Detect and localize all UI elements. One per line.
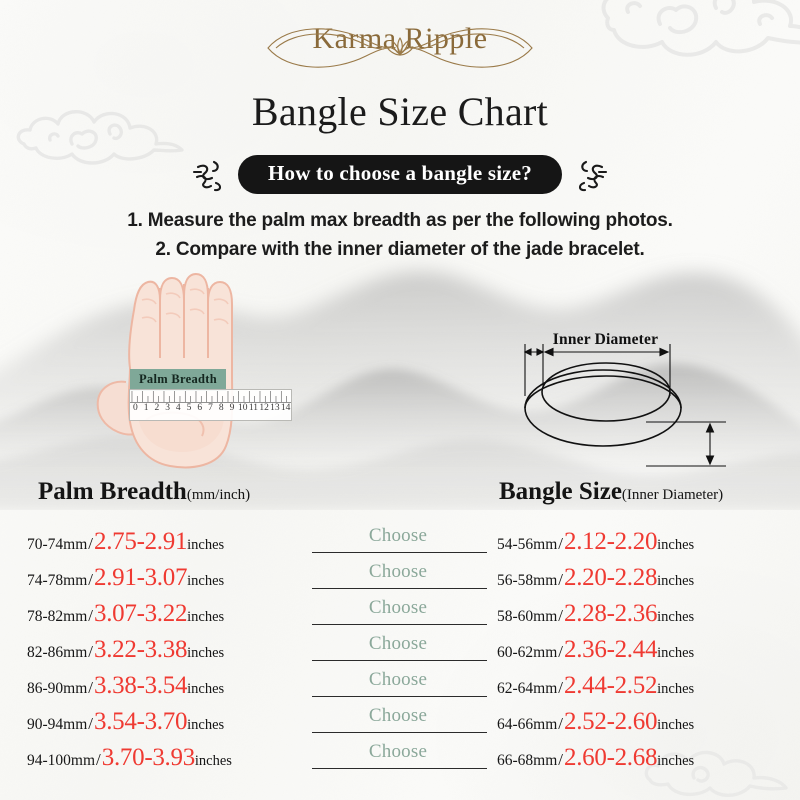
table-row: 90-94mm/3.54-3.70inchesChoose64-66mm/2.5…	[0, 704, 800, 740]
palm-breadth-unit: inches	[187, 537, 224, 554]
choose-cell[interactable]: Choose	[307, 632, 489, 668]
palm-breadth-mm: 74-78mm	[27, 572, 87, 590]
separator-slash: /	[95, 750, 102, 770]
bangle-size-cell: 60-62mm/2.36-2.44inches	[497, 636, 787, 664]
palm-breadth-cell: 94-100mm/3.70-3.93inches	[27, 744, 292, 772]
palm-breadth-mm: 94-100mm	[27, 752, 95, 770]
choose-label[interactable]: Choose	[307, 597, 489, 619]
bangle-size-unit: inches	[657, 573, 694, 590]
ruler-number: 6	[194, 403, 205, 413]
bangle-size-mm: 54-56mm	[497, 536, 557, 554]
separator-slash: /	[87, 534, 94, 554]
palm-breadth-unit: inches	[187, 645, 224, 662]
palm-breadth-cell: 82-86mm/3.22-3.38inches	[27, 636, 292, 664]
table-row: 78-82mm/3.07-3.22inchesChoose58-60mm/2.2…	[0, 596, 800, 632]
separator-slash: /	[557, 642, 564, 662]
bangle-size-unit: inches	[657, 753, 694, 770]
table-row: 82-86mm/3.22-3.38inchesChoose60-62mm/2.3…	[0, 632, 800, 668]
palm-breadth-mm: 78-82mm	[27, 608, 87, 626]
ruler-number: 1	[141, 403, 152, 413]
bangle-size-cell: 56-58mm/2.20-2.28inches	[497, 564, 787, 592]
bangle-size-cell: 62-64mm/2.44-2.52inches	[497, 672, 787, 700]
ruler-number: 4	[173, 403, 184, 413]
column-header-bangle-size: Bangle Size(Inner Diameter)	[499, 478, 723, 506]
choose-underline	[312, 624, 487, 625]
table-row: 74-78mm/2.91-3.07inchesChoose56-58mm/2.2…	[0, 560, 800, 596]
bangle-size-mm: 64-66mm	[497, 716, 557, 734]
column-header-palm-breadth-title: Palm Breadth	[38, 478, 187, 505]
choose-cell[interactable]: Choose	[307, 704, 489, 740]
bangle-size-unit: inches	[657, 537, 694, 554]
palm-breadth-unit: inches	[187, 573, 224, 590]
choose-cell[interactable]: Choose	[307, 740, 489, 776]
column-header-bangle-size-title: Bangle Size	[499, 478, 622, 505]
ruler-number: 11	[248, 403, 259, 413]
separator-slash: /	[87, 642, 94, 662]
page-title: Bangle Size Chart	[0, 88, 800, 135]
bangle-size-cell: 58-60mm/2.28-2.36inches	[497, 600, 787, 628]
choose-underline	[312, 588, 487, 589]
choose-underline	[312, 732, 487, 733]
brand-logo: Karma Ripple	[0, 22, 800, 56]
ruler-number: 14	[280, 403, 291, 413]
choose-label[interactable]: Choose	[307, 633, 489, 655]
separator-slash: /	[557, 606, 564, 626]
palm-breadth-inches: 3.70-3.93	[102, 744, 195, 772]
choose-cell[interactable]: Choose	[307, 524, 489, 560]
separator-slash: /	[87, 606, 94, 626]
ruler-number: 8	[216, 403, 227, 413]
ruler-number: 5	[184, 403, 195, 413]
bangle-size-chart-page: Karma Ripple Bangle Size Chart How to ch…	[0, 0, 800, 800]
ruler-number: 7	[205, 403, 216, 413]
instruction-step-2: 2. Compare with the inner diameter of th…	[0, 235, 800, 264]
choose-label[interactable]: Choose	[307, 561, 489, 583]
flourish-ornament-right	[574, 157, 608, 193]
ruler-number: 2	[151, 403, 162, 413]
palm-breadth-inches: 3.38-3.54	[94, 672, 187, 700]
palm-breadth-cell: 90-94mm/3.54-3.70inches	[27, 708, 292, 736]
ruler-numbers: 01234567891011121314	[130, 403, 291, 413]
separator-slash: /	[87, 678, 94, 698]
bangle-size-cell: 64-66mm/2.52-2.60inches	[497, 708, 787, 736]
bangle-size-cell: 54-56mm/2.12-2.20inches	[497, 528, 787, 556]
palm-breadth-inches: 2.91-3.07	[94, 564, 187, 592]
choose-cell[interactable]: Choose	[307, 560, 489, 596]
instruction-step-1: 1. Measure the palm max breadth as per t…	[0, 206, 800, 235]
instruction-list: 1. Measure the palm max breadth as per t…	[0, 206, 800, 265]
column-header-palm-breadth-subtitle: (mm/inch)	[187, 487, 250, 503]
separator-slash: /	[87, 714, 94, 734]
separator-slash: /	[557, 570, 564, 590]
table-row: 94-100mm/3.70-3.93inchesChoose66-68mm/2.…	[0, 740, 800, 776]
bangle-diagram	[498, 330, 733, 475]
choose-label[interactable]: Choose	[307, 705, 489, 727]
bangle-size-inches: 2.12-2.20	[564, 528, 657, 556]
choose-underline	[312, 552, 487, 553]
choose-underline	[312, 696, 487, 697]
palm-breadth-inches: 3.54-3.70	[94, 708, 187, 736]
ruler-number: 9	[227, 403, 238, 413]
palm-breadth-inches: 3.07-3.22	[94, 600, 187, 628]
palm-breadth-unit: inches	[187, 609, 224, 626]
bangle-size-unit: inches	[657, 645, 694, 662]
howto-pill-row: How to choose a bangle size?	[0, 155, 800, 194]
palm-breadth-inches: 3.22-3.38	[94, 636, 187, 664]
choose-label[interactable]: Choose	[307, 741, 489, 763]
ruler-number: 10	[237, 403, 248, 413]
separator-slash: /	[557, 750, 564, 770]
palm-breadth-cell: 74-78mm/2.91-3.07inches	[27, 564, 292, 592]
table-row: 70-74mm/2.75-2.91inchesChoose54-56mm/2.1…	[0, 524, 800, 560]
bangle-size-unit: inches	[657, 681, 694, 698]
howto-pill[interactable]: How to choose a bangle size?	[238, 155, 562, 194]
flourish-ornament-left	[192, 157, 226, 193]
bangle-size-mm: 66-68mm	[497, 752, 557, 770]
palm-breadth-mm: 70-74mm	[27, 536, 87, 554]
ruler-number: 13	[270, 403, 281, 413]
table-row: 86-90mm/3.38-3.54inchesChoose62-64mm/2.4…	[0, 668, 800, 704]
bangle-size-cell: 66-68mm/2.60-2.68inches	[497, 744, 787, 772]
separator-slash: /	[87, 570, 94, 590]
separator-slash: /	[557, 714, 564, 734]
bangle-size-inches: 2.52-2.60	[564, 708, 657, 736]
bangle-size-mm: 56-58mm	[497, 572, 557, 590]
choose-label[interactable]: Choose	[307, 669, 489, 691]
palm-breadth-cell: 70-74mm/2.75-2.91inches	[27, 528, 292, 556]
bangle-size-mm: 58-60mm	[497, 608, 557, 626]
bangle-size-mm: 62-64mm	[497, 680, 557, 698]
choose-cell[interactable]: Choose	[307, 596, 489, 632]
ruler-number: 12	[259, 403, 270, 413]
choose-underline	[312, 660, 487, 661]
separator-slash: /	[557, 678, 564, 698]
bangle-size-inches: 2.60-2.68	[564, 744, 657, 772]
bangle-size-mm: 60-62mm	[497, 644, 557, 662]
bangle-size-inches: 2.20-2.28	[564, 564, 657, 592]
palm-breadth-mm: 82-86mm	[27, 644, 87, 662]
choose-cell[interactable]: Choose	[307, 668, 489, 704]
ruler-ticks	[130, 390, 291, 403]
choose-label[interactable]: Choose	[307, 525, 489, 547]
ruler-illustration: 01234567891011121314	[129, 389, 292, 421]
palm-breadth-label: Palm Breadth	[130, 369, 226, 391]
palm-breadth-cell: 78-82mm/3.07-3.22inches	[27, 600, 292, 628]
ruler-number: 0	[130, 403, 141, 413]
palm-breadth-mm: 90-94mm	[27, 716, 87, 734]
bangle-size-inches: 2.28-2.36	[564, 600, 657, 628]
palm-breadth-inches: 2.75-2.91	[94, 528, 187, 556]
palm-breadth-unit: inches	[187, 681, 224, 698]
separator-slash: /	[557, 534, 564, 554]
palm-breadth-mm: 86-90mm	[27, 680, 87, 698]
column-header-palm-breadth: Palm Breadth(mm/inch)	[38, 478, 250, 506]
bangle-size-unit: inches	[657, 717, 694, 734]
column-header-bangle-size-subtitle: (Inner Diameter)	[622, 487, 723, 503]
size-table: 70-74mm/2.75-2.91inchesChoose54-56mm/2.1…	[0, 524, 800, 776]
ruler-number: 3	[162, 403, 173, 413]
bangle-size-inches: 2.44-2.52	[564, 672, 657, 700]
bangle-size-unit: inches	[657, 609, 694, 626]
choose-underline	[312, 768, 487, 769]
palm-breadth-unit: inches	[187, 717, 224, 734]
palm-breadth-cell: 86-90mm/3.38-3.54inches	[27, 672, 292, 700]
palm-breadth-unit: inches	[195, 753, 232, 770]
lotus-icon	[385, 34, 415, 60]
bangle-size-inches: 2.36-2.44	[564, 636, 657, 664]
